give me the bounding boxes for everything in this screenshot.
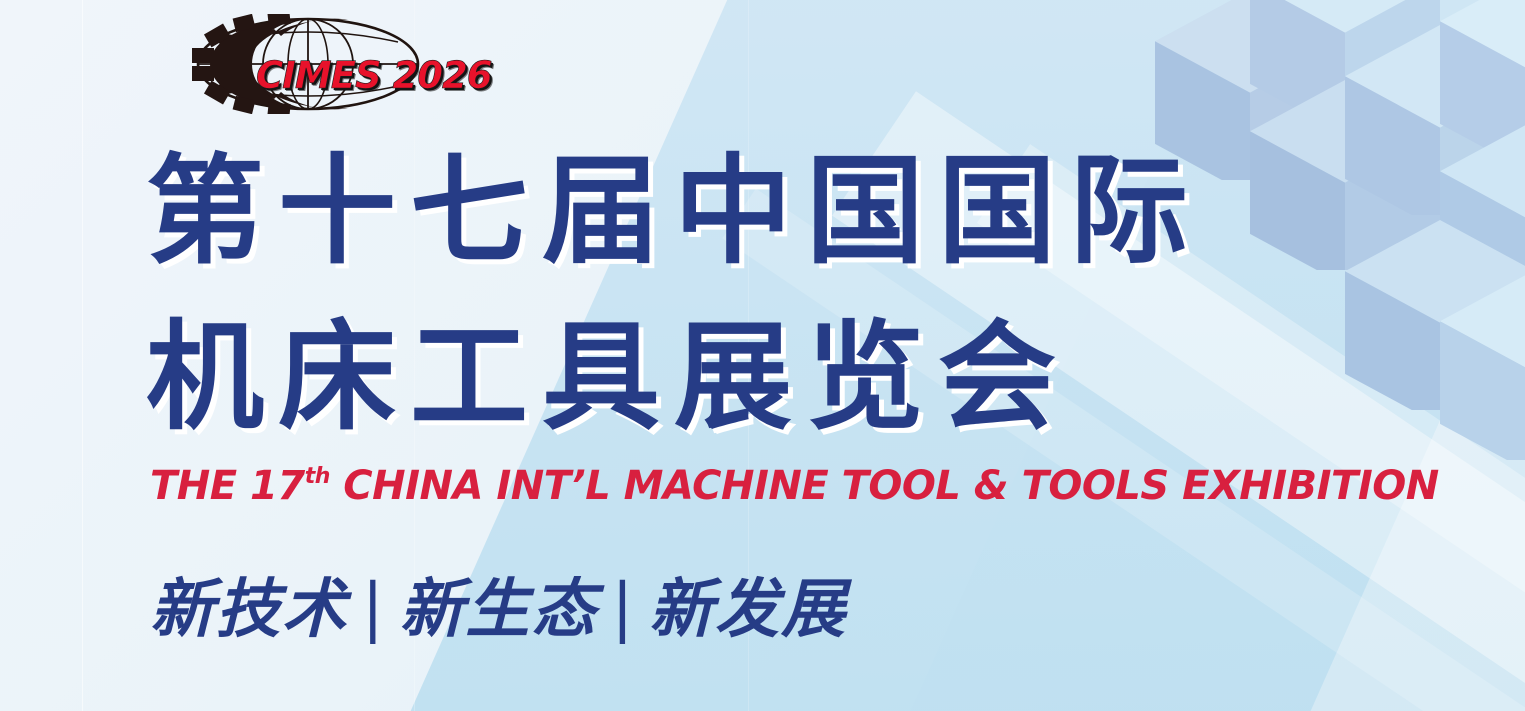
title-chinese-line1: 第十七届中国国际: [146, 152, 1202, 270]
title-english-rest: CHINA INT’L MACHINE TOOL & TOOLS EXHIBIT…: [330, 463, 1439, 509]
tagline-part-1: 新技术: [150, 573, 348, 647]
background-vertical-rule: [82, 0, 83, 711]
title-english-ordinal: th: [305, 464, 330, 489]
tagline-part-2: 新生态: [400, 573, 598, 647]
title-english-prefix: THE 17: [150, 463, 305, 509]
cimes-logo: CIMES 2026: [148, 14, 488, 114]
cimes-2026-banner: CIMES 2026 第十七届中国国际 机床工具展览会 THE 17th CHI…: [0, 0, 1525, 711]
tagline-separator: |: [598, 571, 650, 645]
title-english: THE 17th CHINA INT’L MACHINE TOOL & TOOL…: [150, 466, 1439, 506]
cimes-wordmark: CIMES 2026: [256, 54, 492, 97]
tagline-part-3: 新发展: [649, 573, 847, 647]
tagline: 新技术|新生态|新发展: [150, 578, 847, 642]
title-chinese-line2: 机床工具展览会: [146, 318, 1070, 436]
tagline-separator: |: [348, 571, 400, 645]
